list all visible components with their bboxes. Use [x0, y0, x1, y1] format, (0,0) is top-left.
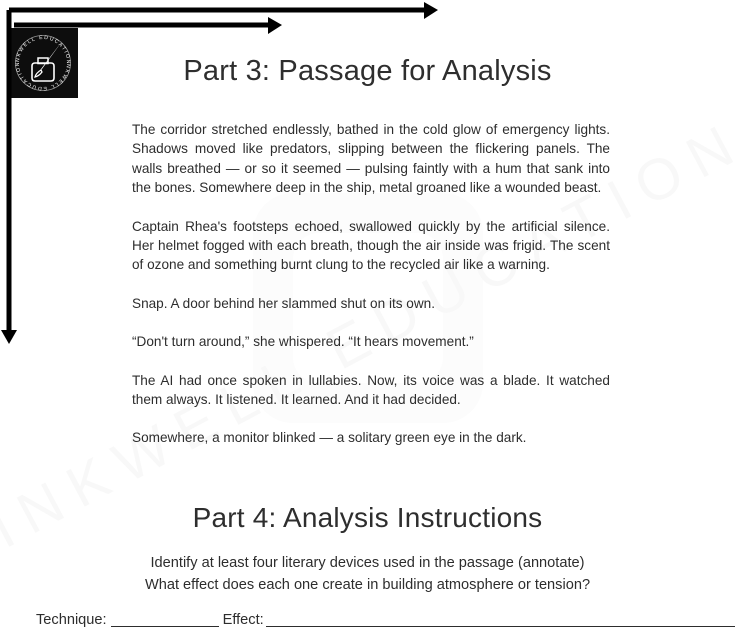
- inkwell-education-logo: INKWELL EDUCATION INKWELL EDUCATION: [8, 28, 78, 98]
- passage-paragraph: “Don't turn around,” she whispered. “It …: [132, 332, 610, 351]
- part4-heading: Part 4: Analysis Instructions: [0, 502, 735, 534]
- inkwell-quill-icon: INKWELL EDUCATION INKWELL EDUCATION: [8, 28, 78, 98]
- answer-entry-row: Technique:Effect:: [36, 612, 726, 628]
- analysis-instructions: Identify at least four literary devices …: [0, 552, 735, 596]
- passage-paragraph: The corridor stretched endlessly, bathed…: [132, 120, 610, 198]
- effect-label: Effect:: [223, 612, 264, 628]
- passage-body: The corridor stretched endlessly, bathed…: [132, 120, 610, 448]
- technique-label: Technique:: [36, 612, 107, 628]
- passage-paragraph: Snap. A door behind her slammed shut on …: [132, 294, 610, 313]
- passage-paragraph: Captain Rhea's footsteps echoed, swallow…: [132, 217, 610, 275]
- instruction-line-1: Identify at least four literary devices …: [0, 552, 735, 574]
- instruction-line-2: What effect does each one create in buil…: [0, 574, 735, 596]
- passage-paragraph: Somewhere, a monitor blinked — a solitar…: [132, 428, 610, 447]
- technique-input-blank[interactable]: [111, 613, 219, 627]
- worksheet-page: INKWELL EDUCATION INKWELL EDUCATION Part…: [0, 0, 735, 642]
- effect-input-blank[interactable]: [266, 613, 735, 627]
- passage-paragraph: The AI had once spoken in lullabies. Now…: [132, 371, 610, 410]
- part3-heading: Part 3: Passage for Analysis: [0, 55, 735, 88]
